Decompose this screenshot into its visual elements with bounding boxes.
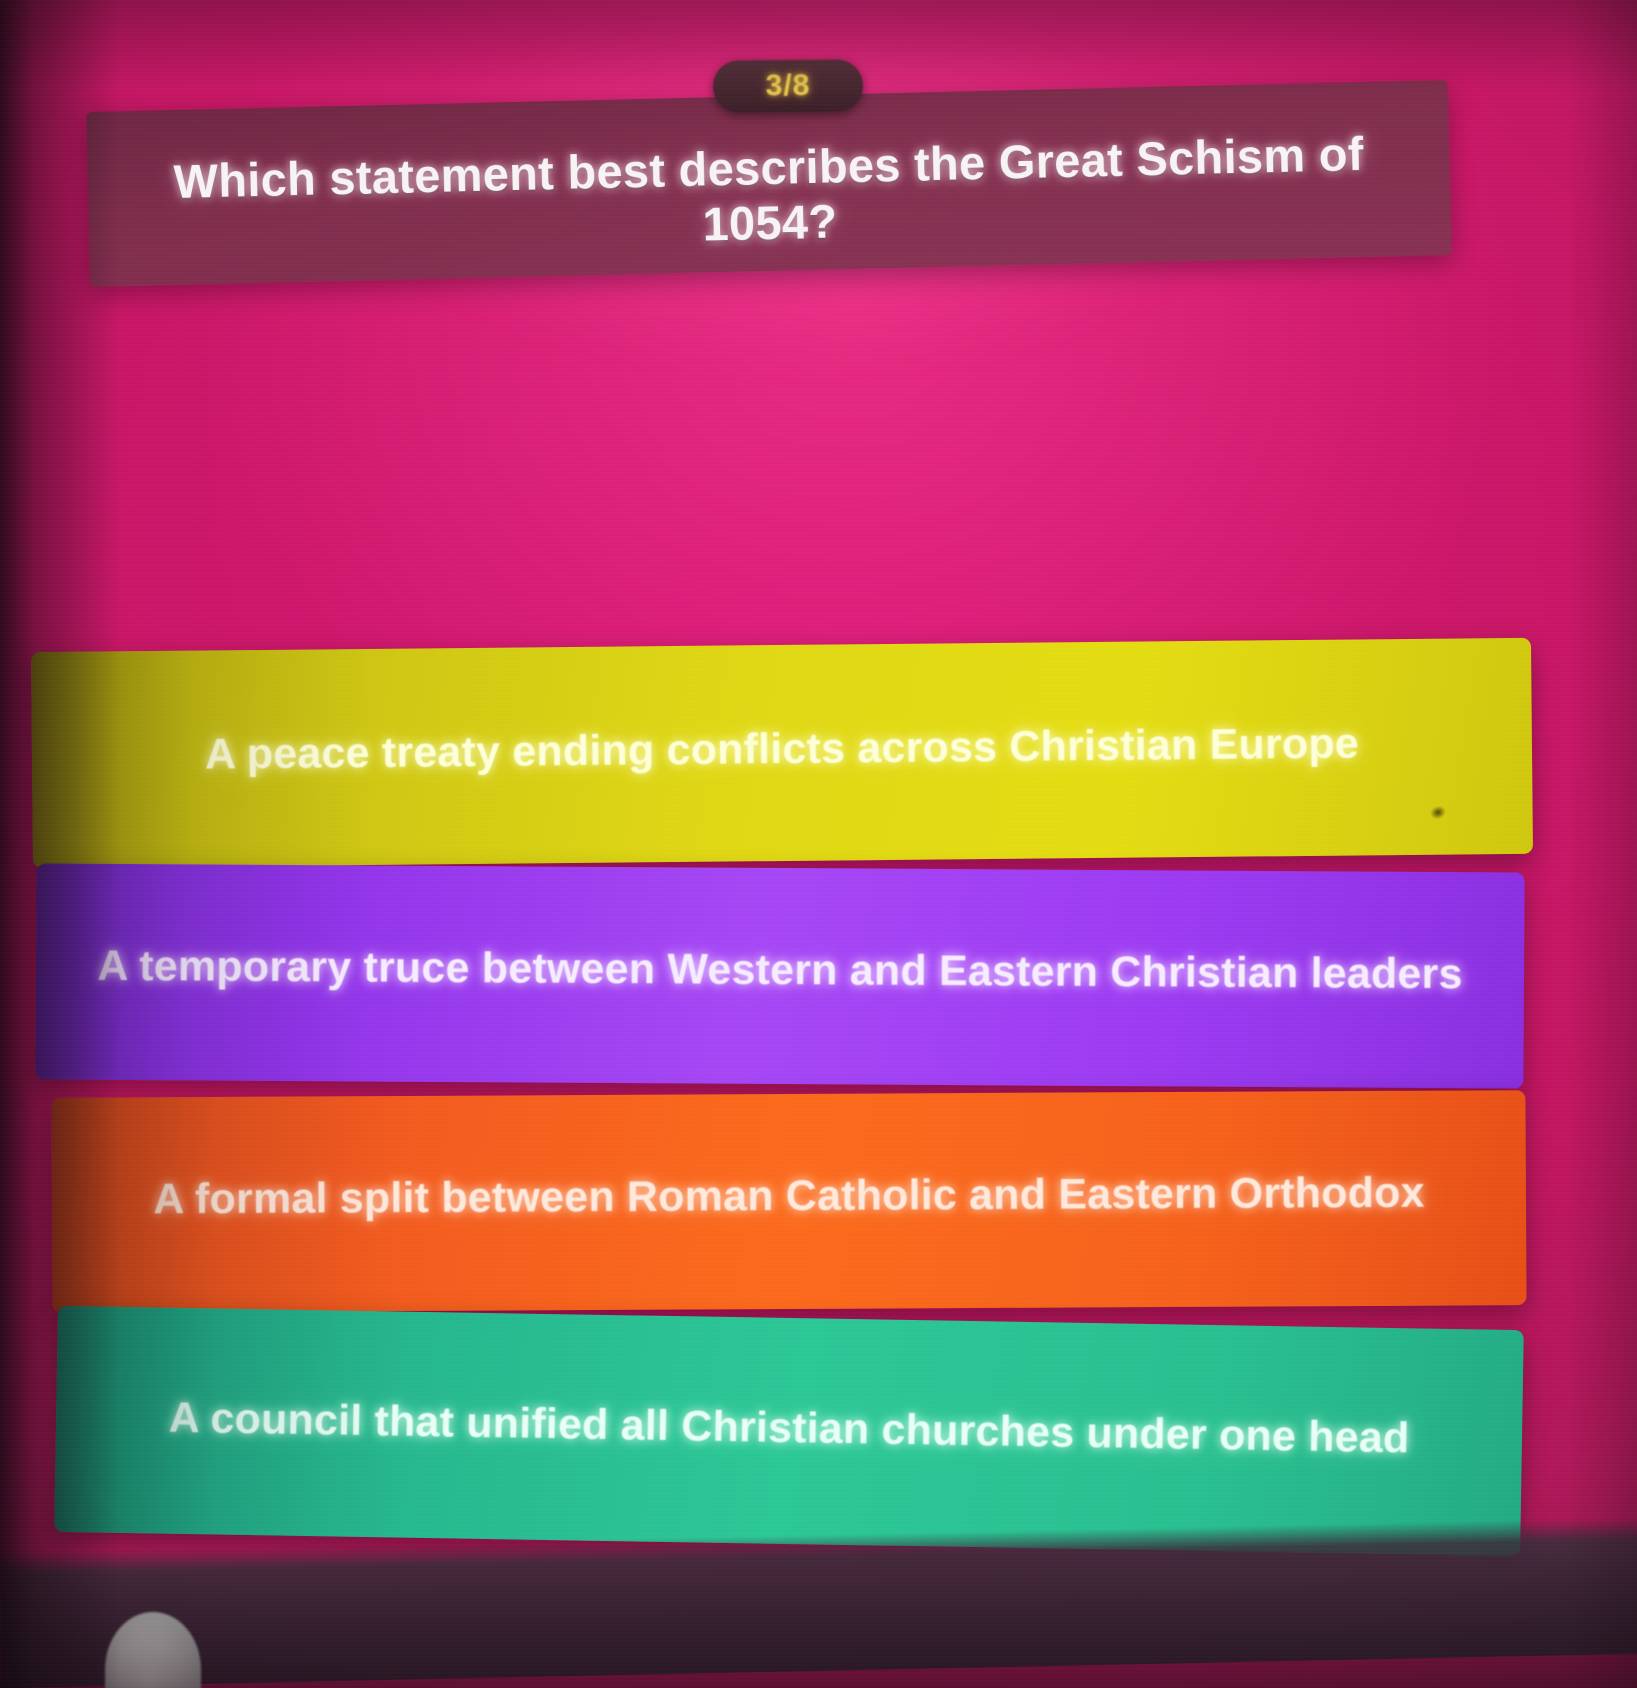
answer-option-teal[interactable]: A council that unified all Christian chu…	[54, 1306, 1524, 1556]
answer-option-label: A peace treaty ending conflicts across C…	[32, 718, 1532, 781]
answer-option-label: A council that unified all Christian chu…	[56, 1392, 1523, 1465]
answer-option-yellow[interactable]: A peace treaty ending conflicts across C…	[31, 638, 1533, 868]
answer-option-label: A formal split between Roman Catholic an…	[52, 1168, 1526, 1225]
answer-option-purple[interactable]: A temporary truce between Western and Ea…	[35, 863, 1524, 1088]
question-text: Which statement best describes the Great…	[87, 124, 1451, 266]
progress-badge: 3/8	[713, 59, 863, 112]
answer-option-orange[interactable]: A formal split between Roman Catholic an…	[51, 1090, 1526, 1313]
quiz-screen: 3/8 Which statement best describes the G…	[0, 0, 1637, 1688]
progress-badge-label: 3/8	[765, 69, 810, 103]
answer-option-label: A temporary truce between Western and Ea…	[36, 941, 1524, 999]
